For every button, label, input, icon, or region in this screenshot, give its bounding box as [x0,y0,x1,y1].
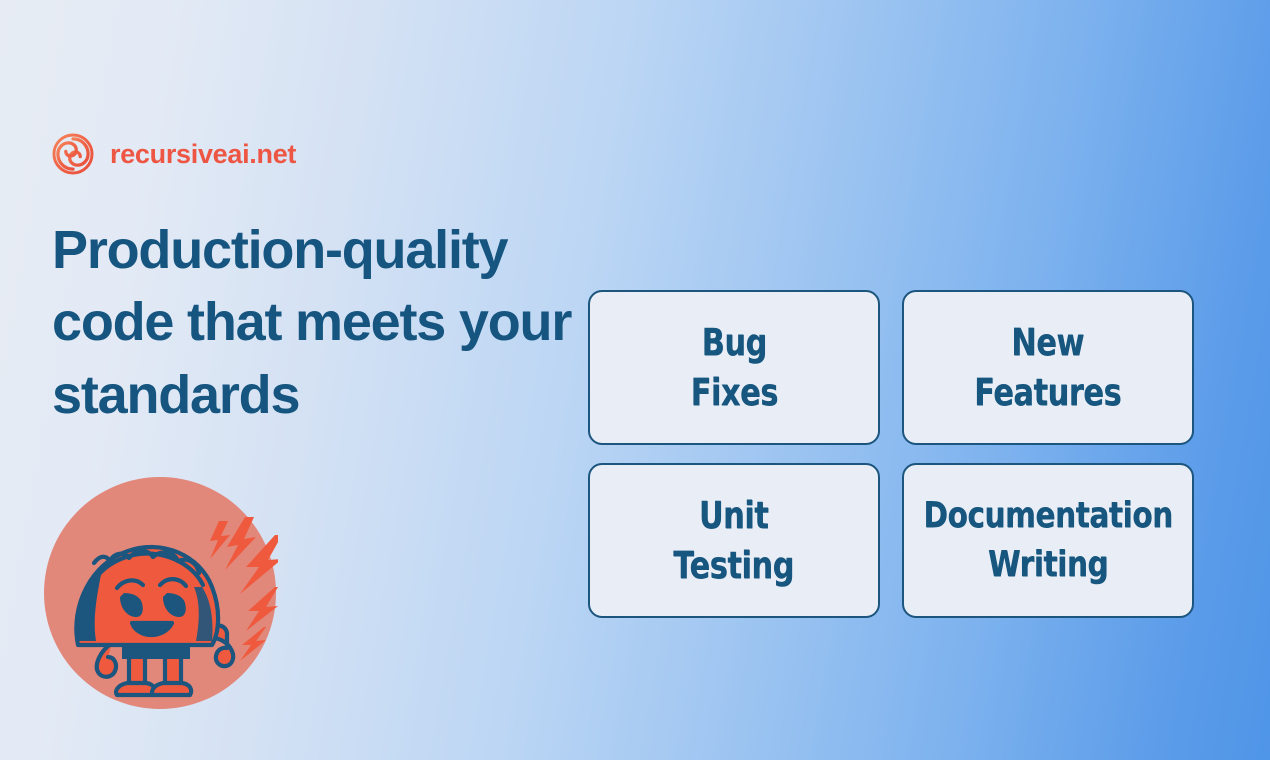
capability-cards-grid: Bug Fixes New Features Unit Testing Docu… [588,290,1194,618]
taco-brain-mascot-icon [42,475,278,711]
card-unit-testing-label: Unit Testing [674,491,795,590]
card-bug-fixes[interactable]: Bug Fixes [588,290,880,445]
brand-name: recursiveai.net [110,141,296,168]
spiral-swirl-logo-icon [52,133,94,175]
card-new-features-label: New Features [975,318,1122,417]
card-new-features[interactable]: New Features [902,290,1194,445]
brand-lockup: recursiveai.net [52,126,582,182]
card-documentation-writing[interactable]: Documentation Writing [902,463,1194,618]
page-title: Production-quality code that meets your … [52,214,572,431]
card-documentation-writing-label: Documentation Writing [923,492,1172,588]
card-bug-fixes-label: Bug Fixes [690,318,777,417]
left-content-column: recursiveai.net Production-quality code … [52,126,582,431]
card-unit-testing[interactable]: Unit Testing [588,463,880,618]
mascot-illustration [42,475,278,711]
